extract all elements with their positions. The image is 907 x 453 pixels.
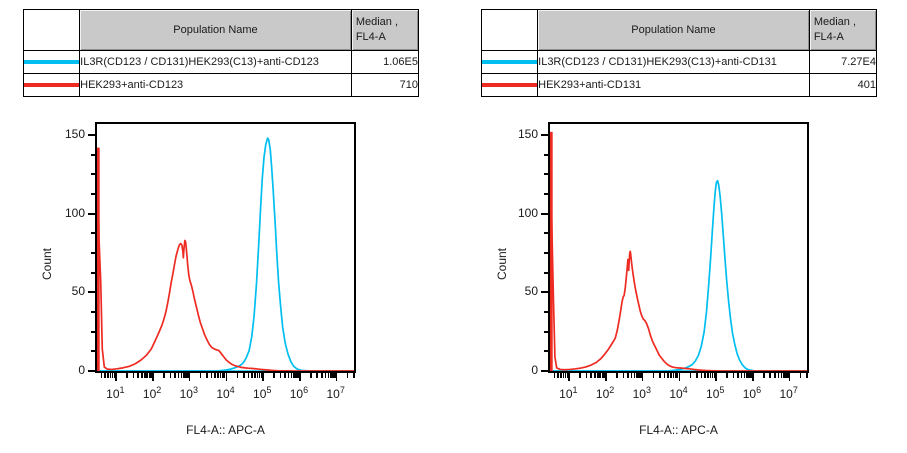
y-axis-label: Count (495, 248, 509, 280)
x-minor-tick (707, 373, 709, 378)
x-minor-tick (141, 373, 143, 378)
x-minor-tick (163, 373, 165, 378)
x-major-tick (115, 373, 117, 381)
x-tick-label: 105 (699, 385, 731, 401)
legend-header-population: Population Name (80, 10, 352, 51)
y-minor-tick (544, 272, 548, 274)
y-major-tick (88, 291, 95, 293)
x-tick-label: 106 (283, 385, 315, 401)
median-value: 710 (351, 74, 418, 97)
x-minor-tick (254, 373, 256, 378)
x-minor-tick (781, 373, 783, 378)
x-minor-tick (557, 373, 559, 378)
x-minor-tick (133, 373, 135, 378)
legend-table: Population Name Median , FL4-A IL3R(CD12… (481, 9, 877, 97)
y-major-tick (541, 370, 548, 372)
population-name: HEK293+anti-CD131 (538, 74, 810, 97)
x-minor-tick (579, 373, 581, 378)
x-minor-tick (101, 373, 103, 378)
y-minor-tick (544, 311, 548, 313)
x-tick-label: 106 (736, 385, 768, 401)
y-major-tick (88, 134, 95, 136)
x-major-tick (642, 373, 644, 381)
x-minor-tick (806, 373, 808, 378)
x-minor-tick (560, 373, 562, 378)
x-minor-tick (353, 373, 355, 378)
x-minor-tick (200, 373, 202, 378)
x-tick-label: 103 (173, 385, 205, 401)
x-major-tick (262, 373, 264, 381)
median-value: 1.06E5 (351, 51, 418, 74)
x-minor-tick (594, 373, 596, 378)
legend-header-swatch (24, 10, 80, 51)
x-minor-tick (174, 373, 176, 378)
legend-swatch-red (24, 74, 80, 97)
x-major-tick (752, 373, 754, 381)
legend-header-median-line1: Median , (814, 16, 856, 28)
x-minor-tick (321, 373, 323, 378)
legend-swatch-red (482, 74, 538, 97)
y-tick-label: 0 (33, 363, 85, 377)
y-minor-tick (91, 331, 95, 333)
y-minor-tick (91, 252, 95, 254)
color-swatch (482, 60, 537, 64)
y-minor-tick (91, 154, 95, 156)
y-major-tick (88, 213, 95, 215)
x-minor-tick (597, 373, 599, 378)
y-minor-tick (91, 272, 95, 274)
y-tick-label: 150 (486, 127, 538, 141)
x-minor-tick (170, 373, 172, 378)
legend-header-median: Median , FL4-A (809, 10, 876, 51)
table-row[interactable]: HEK293+anti-CD123 710 (24, 74, 419, 97)
x-minor-tick (104, 373, 106, 378)
y-tick-label: 50 (33, 284, 85, 298)
color-swatch (482, 83, 537, 87)
x-minor-tick (737, 373, 739, 378)
x-minor-tick (744, 373, 746, 378)
x-minor-tick (726, 373, 728, 378)
x-minor-tick (701, 373, 703, 378)
x-minor-tick (211, 373, 213, 378)
x-minor-tick (696, 373, 698, 378)
y-minor-tick (544, 193, 548, 195)
table-row[interactable]: IL3R(CD123 / CD131)HEK293(C13)+anti-CD12… (24, 51, 419, 74)
y-minor-tick (544, 350, 548, 352)
x-minor-tick (243, 373, 245, 378)
median-value: 7.27E4 (809, 51, 876, 74)
x-minor-tick (627, 373, 629, 378)
x-minor-tick (667, 373, 669, 378)
color-swatch (24, 60, 79, 64)
legend-header-swatch (482, 10, 538, 51)
y-minor-tick (91, 193, 95, 195)
x-minor-tick (634, 373, 636, 378)
x-minor-tick (107, 373, 109, 378)
x-minor-tick (733, 373, 735, 378)
y-minor-tick (91, 232, 95, 234)
x-minor-tick (586, 373, 588, 378)
x-major-tick (568, 373, 570, 381)
x-minor-tick (291, 373, 293, 378)
y-minor-tick (544, 331, 548, 333)
panel-cd123: Population Name Median , FL4-A IL3R(CD12… (0, 0, 453, 453)
x-major-tick (679, 373, 681, 381)
x-minor-tick (280, 373, 282, 378)
y-tick-label: 100 (33, 206, 85, 220)
x-tick-label: 107 (320, 385, 352, 401)
x-minor-tick (178, 373, 180, 378)
x-minor-tick (206, 373, 208, 378)
population-name: IL3R(CD123 / CD131)HEK293(C13)+anti-CD13… (538, 51, 810, 74)
y-major-tick (541, 134, 548, 136)
legend-header-row: Population Name Median , FL4-A (482, 10, 877, 51)
x-tick-label: 101 (552, 385, 584, 401)
x-minor-tick (664, 373, 666, 378)
x-minor-tick (126, 373, 128, 378)
x-major-tick (715, 373, 717, 381)
x-tick-label: 105 (246, 385, 278, 401)
y-minor-tick (544, 173, 548, 175)
y-tick-label: 50 (486, 284, 538, 298)
y-minor-tick (91, 173, 95, 175)
x-major-tick (152, 373, 154, 381)
x-minor-tick (554, 373, 556, 378)
x-minor-tick (310, 373, 312, 378)
population-name: HEK293+anti-CD123 (80, 74, 352, 97)
table-row[interactable]: HEK293+anti-CD131 401 (482, 74, 877, 97)
x-major-tick (226, 373, 228, 381)
x-minor-tick (325, 373, 327, 378)
color-swatch (24, 83, 79, 87)
x-axis-label: FL4-A:: APC-A (548, 423, 809, 437)
x-minor-tick (670, 373, 672, 378)
legend-table: Population Name Median , FL4-A IL3R(CD12… (23, 9, 419, 97)
x-minor-tick (631, 373, 633, 378)
legend-header-median: Median , FL4-A (351, 10, 418, 51)
x-minor-tick (769, 373, 771, 378)
y-major-tick (541, 291, 548, 293)
x-minor-tick (144, 373, 146, 378)
y-minor-tick (544, 154, 548, 156)
series-line-cyan (550, 181, 807, 371)
series-line-red (550, 132, 807, 371)
y-minor-tick (544, 232, 548, 234)
x-minor-tick (774, 373, 776, 378)
x-minor-tick (214, 373, 216, 378)
x-major-tick (189, 373, 191, 381)
x-major-tick (336, 373, 338, 381)
plot-frame (548, 122, 809, 373)
x-minor-tick (181, 373, 183, 378)
x-minor-tick (763, 373, 765, 378)
x-major-tick (789, 373, 791, 381)
x-minor-tick (741, 373, 743, 378)
plot-frame (95, 122, 356, 373)
y-major-tick (541, 213, 548, 215)
legend-header-row: Population Name Median , FL4-A (24, 10, 419, 51)
x-minor-tick (653, 373, 655, 378)
x-major-tick (605, 373, 607, 381)
x-minor-tick (704, 373, 706, 378)
y-axis-label: Count (40, 248, 54, 280)
x-minor-tick (137, 373, 139, 378)
x-minor-tick (659, 373, 661, 378)
x-tick-label: 102 (589, 385, 621, 401)
x-tick-label: 101 (99, 385, 131, 401)
y-tick-label: 150 (33, 127, 85, 141)
x-minor-tick (251, 373, 253, 378)
panel-cd131: Population Name Median , FL4-A IL3R(CD12… (453, 0, 906, 453)
y-minor-tick (91, 350, 95, 352)
y-tick-label: 0 (486, 363, 538, 377)
legend-header-median-line2: FL4-A (356, 30, 418, 45)
table-row[interactable]: IL3R(CD123 / CD131)HEK293(C13)+anti-CD13… (482, 51, 877, 74)
x-minor-tick (590, 373, 592, 378)
x-minor-tick (316, 373, 318, 378)
y-minor-tick (91, 311, 95, 313)
x-minor-tick (217, 373, 219, 378)
x-minor-tick (237, 373, 239, 378)
x-minor-tick (328, 373, 330, 378)
x-tick-label: 102 (136, 385, 168, 401)
x-minor-tick (616, 373, 618, 378)
x-minor-tick (273, 373, 275, 378)
y-tick-label: 100 (486, 206, 538, 220)
x-tick-label: 103 (626, 385, 658, 401)
x-minor-tick (284, 373, 286, 378)
legend-header-population: Population Name (538, 10, 810, 51)
x-minor-tick (347, 373, 349, 378)
y-minor-tick (544, 252, 548, 254)
series-line-cyan (97, 138, 354, 371)
x-tick-label: 104 (663, 385, 695, 401)
legend-swatch-cyan (482, 51, 538, 74)
x-minor-tick (288, 373, 290, 378)
x-axis-label: FL4-A:: APC-A (95, 423, 356, 437)
x-tick-label: 107 (773, 385, 805, 401)
x-tick-label: 104 (210, 385, 242, 401)
population-name: IL3R(CD123 / CD131)HEK293(C13)+anti-CD12… (80, 51, 352, 74)
y-major-tick (88, 370, 95, 372)
series-line-red (97, 148, 354, 371)
x-major-tick (299, 373, 301, 381)
x-minor-tick (778, 373, 780, 378)
median-value: 401 (809, 74, 876, 97)
x-minor-tick (623, 373, 625, 378)
legend-swatch-cyan (24, 51, 80, 74)
x-minor-tick (690, 373, 692, 378)
x-minor-tick (248, 373, 250, 378)
legend-header-median-line2: FL4-A (814, 30, 876, 45)
x-minor-tick (800, 373, 802, 378)
legend-header-median-line1: Median , (356, 16, 398, 28)
